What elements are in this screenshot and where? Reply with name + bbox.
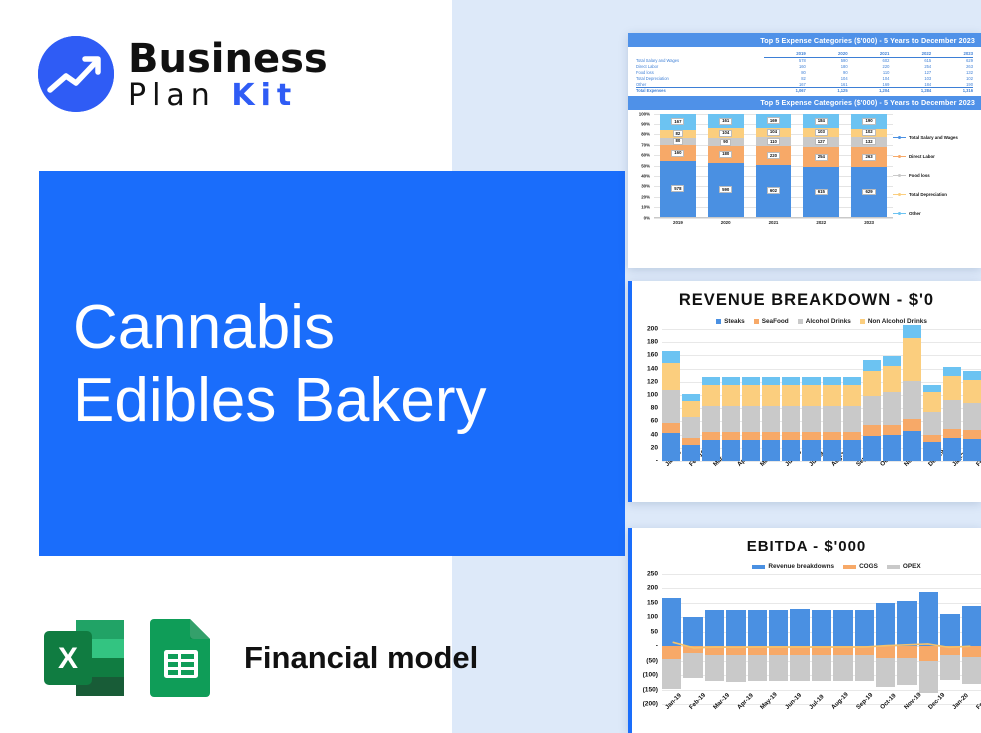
- stacked-segment: 602: [756, 165, 792, 216]
- y-tick-label: (100): [643, 672, 658, 679]
- stacked-segment: [823, 377, 841, 385]
- stacked-segment: [722, 440, 740, 461]
- stacked-segment: [682, 438, 700, 445]
- y-tick-label: 100: [647, 392, 658, 399]
- y-tick-label: -: [656, 643, 658, 650]
- stacked-segment: [726, 610, 745, 646]
- stacked-segment: [943, 429, 961, 438]
- x-tick-label: 2019: [660, 220, 696, 225]
- stacked-segment: [940, 614, 959, 647]
- stacked-bar: [702, 377, 720, 461]
- y-tick-label: 80: [651, 405, 658, 412]
- data-label: 180: [719, 151, 732, 158]
- stacked-bar: [962, 574, 981, 704]
- stacked-segment: [762, 385, 780, 406]
- stacked-segment: [943, 376, 961, 400]
- stacked-bar: [662, 574, 681, 704]
- revenue-chart-title: REVENUE BREAKDOWN - $'0: [632, 281, 981, 310]
- y-tick-label: 0%: [644, 215, 650, 220]
- legend-label: Revenue breakdowns: [768, 563, 834, 570]
- y-tick-label: 40: [651, 431, 658, 438]
- data-label: 161: [719, 118, 732, 125]
- stacked-segment: 190: [851, 114, 887, 129]
- brand-word-plan: Plan: [128, 78, 231, 113]
- stacked-segment: [923, 385, 941, 392]
- stacked-segment: [823, 406, 841, 432]
- legend-item[interactable]: Total Salary and Wages: [893, 128, 977, 147]
- stacked-segment: [943, 438, 961, 461]
- table-cell-value: 1,316: [931, 87, 973, 93]
- stacked-bar: [748, 574, 767, 704]
- legend-item[interactable]: Direct Labor: [893, 147, 977, 166]
- stacked-bar: [843, 377, 861, 461]
- stacked-segment: [863, 425, 881, 436]
- stacked-bar: [683, 574, 702, 704]
- expense-table: 20192020202120222023 Total Salary and Wa…: [628, 47, 981, 96]
- data-label: 167: [671, 118, 684, 125]
- revenue-x-axis: Jan-19Feb-19Mar-19Apr-19May-19Jun-19Jul-…: [662, 463, 981, 470]
- ebitda-chart-title: EBITDA - $'000: [632, 528, 981, 555]
- stacked-segment: [748, 646, 767, 655]
- stacked-segment: [726, 655, 745, 682]
- data-label: 104: [719, 130, 732, 137]
- stacked-segment: [705, 646, 724, 655]
- stacked-segment: [705, 655, 724, 681]
- stacked-segment: [762, 440, 780, 461]
- data-label: 578: [671, 185, 684, 192]
- data-label: 254: [815, 154, 828, 161]
- y-tick-label: 100%: [639, 111, 650, 116]
- stacked-segment: 254: [803, 147, 839, 167]
- stacked-segment: [903, 338, 921, 381]
- stacked-segment: [903, 381, 921, 419]
- stacked-segment: [812, 646, 831, 655]
- stacked-segment: 169: [756, 114, 792, 128]
- data-label: 615: [815, 189, 828, 196]
- expense-stacked-chart: 100%90%80%70%60%50%40%30%20%10%0% 167828…: [628, 110, 981, 234]
- stacked-bar: [943, 367, 961, 461]
- stacked-segment: [812, 655, 831, 681]
- stacked-segment: [883, 425, 901, 435]
- legend-item[interactable]: SeaFood: [754, 318, 789, 325]
- stacked-segment: 590: [708, 163, 744, 217]
- stacked-segment: [843, 432, 861, 440]
- stacked-segment: [843, 406, 861, 432]
- revenue-legend: SteaksSeaFoodAlcohol DrinksNon Alcohol D…: [632, 318, 981, 325]
- stacked-bar: [742, 377, 760, 461]
- stacked-segment: 184: [803, 114, 839, 129]
- expense-table-title: Top 5 Expense Categories ($'000) - 5 Yea…: [628, 33, 981, 47]
- stacked-segment: 82: [660, 130, 696, 138]
- stacked-segment: [769, 646, 788, 655]
- data-label: 103: [815, 129, 828, 136]
- legend-label: Other: [909, 211, 921, 216]
- legend-item[interactable]: OPEX: [887, 563, 921, 570]
- stacked-segment: [919, 646, 938, 661]
- ebitda-y-axis: 25020015010050-(50)(100)(150)(200): [632, 574, 660, 704]
- stacked-segment: 110: [756, 137, 792, 146]
- y-tick-label: 60%: [641, 153, 650, 158]
- y-tick-label: 10%: [641, 205, 650, 210]
- stacked-segment: [863, 371, 881, 397]
- stacked-segment: [883, 366, 901, 392]
- stacked-segment: [726, 646, 745, 655]
- stacked-segment: [662, 390, 680, 423]
- stacked-segment: [897, 658, 916, 685]
- stacked-segment: [705, 610, 724, 646]
- stacked-segment: [742, 385, 760, 406]
- stacked-segment: [940, 655, 959, 680]
- stacked-segment: [823, 440, 841, 461]
- stacked-segment: 104: [756, 128, 792, 137]
- data-label: 90: [720, 139, 731, 146]
- stacked-segment: [943, 367, 961, 376]
- y-tick-label: 150: [647, 599, 658, 606]
- legend-marker-icon: [893, 194, 906, 195]
- y-tick-label: 180: [647, 339, 658, 346]
- x-tick-label: 2023: [851, 220, 887, 225]
- stacked-bar: [762, 377, 780, 461]
- stacked-segment: [802, 385, 820, 406]
- legend-swatch-icon: [752, 565, 765, 569]
- data-label: 190: [862, 118, 875, 125]
- y-tick-label: 20%: [641, 194, 650, 199]
- data-label: 263: [862, 154, 875, 161]
- stacked-segment: [702, 385, 720, 406]
- stacked-segment: [702, 440, 720, 461]
- y-tick-label: (150): [643, 686, 658, 693]
- stacked-bar: [876, 574, 895, 704]
- legend-label: Total Depreciation: [909, 192, 947, 197]
- legend-marker-icon: [893, 156, 906, 157]
- stacked-bar: [790, 574, 809, 704]
- stacked-bar: [802, 377, 820, 461]
- y-tick-label: 50: [651, 628, 658, 635]
- stacked-segment: [683, 653, 702, 678]
- legend-swatch-icon: [843, 565, 856, 569]
- stacked-bar: [833, 574, 852, 704]
- data-label: 132: [862, 138, 875, 145]
- pct-x-axis: 20192020202120222023: [654, 220, 893, 225]
- legend-label: Direct Labor: [909, 154, 935, 159]
- stacked-segment: [742, 432, 760, 440]
- ebitda-screenshot[interactable]: EBITDA - $'000 Revenue breakdownsCOGSOPE…: [628, 528, 981, 733]
- legend-item[interactable]: Revenue breakdowns: [752, 563, 834, 570]
- table-cell-value: 1,204: [848, 87, 890, 93]
- data-label: 169: [767, 117, 780, 124]
- stacked-bar: [722, 377, 740, 461]
- legend-label: Steaks: [724, 318, 745, 325]
- stacked-bar: [705, 574, 724, 704]
- stacked-segment: [662, 433, 680, 461]
- stacked-bar: [940, 574, 959, 704]
- stacked-bar: 16110490180590: [708, 114, 744, 217]
- stacked-segment: [923, 442, 941, 461]
- y-tick-label: 80%: [641, 132, 650, 137]
- legend-label: Alcohol Drinks: [806, 318, 851, 325]
- stacked-segment: [823, 385, 841, 406]
- stacked-segment: [742, 406, 760, 432]
- stacked-segment: [782, 406, 800, 432]
- legend-item[interactable]: Steaks: [716, 318, 745, 325]
- stacked-segment: [702, 406, 720, 432]
- stacked-bar: [682, 394, 700, 461]
- stacked-segment: [823, 432, 841, 440]
- stacked-bar: [903, 325, 921, 461]
- stacked-segment: [833, 646, 852, 655]
- stacked-segment: [802, 432, 820, 440]
- stacked-segment: 90: [708, 138, 744, 146]
- stacked-bar: 184103127254615: [803, 114, 839, 217]
- legend-label: SeaFood: [762, 318, 789, 325]
- stacked-segment: [812, 610, 831, 646]
- legend-marker-icon: [893, 175, 906, 176]
- legend-item[interactable]: Other: [893, 204, 977, 223]
- stacked-segment: [940, 646, 959, 655]
- stacked-segment: [843, 377, 861, 385]
- stacked-segment: 629: [851, 167, 887, 216]
- stacked-segment: [876, 646, 895, 658]
- legend-swatch-icon: [798, 319, 803, 324]
- legend-swatch-icon: [754, 319, 759, 324]
- expense-chart-title: Top 5 Expense Categories ($'000) - 5 Yea…: [628, 96, 981, 110]
- table-cell-value: 1,067: [764, 87, 806, 93]
- stacked-segment: 160: [660, 145, 696, 160]
- stacked-segment: [682, 401, 700, 417]
- stacked-segment: [662, 351, 680, 362]
- stacked-segment: [702, 432, 720, 440]
- data-label: 104: [767, 129, 780, 136]
- stacked-segment: [662, 363, 680, 390]
- stacked-segment: [923, 412, 941, 435]
- revenue-plot-area: [662, 329, 981, 461]
- revenue-y-axis: 20018016014012010080604020-: [632, 329, 660, 461]
- legend-label: Food loss: [909, 173, 930, 178]
- google-sheets-icon: [148, 617, 214, 699]
- stacked-segment: [855, 646, 874, 655]
- data-label: 590: [719, 186, 732, 193]
- legend-marker-icon: [893, 137, 906, 138]
- stacked-segment: [962, 606, 981, 646]
- stacked-bar: 1678280160578: [660, 114, 696, 217]
- stacked-segment: [790, 609, 809, 646]
- stacked-bar: [897, 574, 916, 704]
- microsoft-excel-icon: X: [42, 618, 126, 698]
- data-label: 220: [767, 152, 780, 159]
- legend-label: Total Salary and Wages: [909, 135, 958, 140]
- stacked-segment: [782, 432, 800, 440]
- page-title-line1: Cannabis: [73, 292, 613, 365]
- stacked-segment: [782, 377, 800, 385]
- data-label: 127: [815, 138, 828, 145]
- stacked-segment: 104: [708, 128, 744, 138]
- pct-plot-area: 1678280160578161104901805901691041102206…: [654, 114, 893, 218]
- stacked-bar: [726, 574, 745, 704]
- stacked-segment: [962, 646, 981, 656]
- stacked-bar: [923, 385, 941, 461]
- y-tick-label: 60: [651, 418, 658, 425]
- stacked-segment: [748, 655, 767, 681]
- legend-item[interactable]: Alcohol Drinks: [798, 318, 851, 325]
- y-tick-label: 200: [647, 326, 658, 333]
- stacked-segment: [963, 403, 981, 430]
- brand-logo: Business Plan Kit: [38, 36, 328, 112]
- y-tick-label: 250: [647, 571, 658, 578]
- page-title: Cannabis Edibles Bakery: [73, 292, 613, 437]
- y-tick-label: (200): [643, 701, 658, 708]
- stacked-segment: [782, 440, 800, 461]
- stacked-segment: [662, 598, 681, 646]
- stacked-segment: [903, 325, 921, 338]
- stacked-segment: [790, 646, 809, 655]
- y-tick-label: 50%: [641, 163, 650, 168]
- stacked-segment: [769, 655, 788, 681]
- stacked-segment: [876, 603, 895, 646]
- stacked-segment: [790, 655, 809, 681]
- stacked-segment: [683, 646, 702, 653]
- stacked-segment: [802, 440, 820, 461]
- table-cell-value: 1,125: [806, 87, 848, 93]
- data-label: 110: [767, 138, 780, 145]
- stacked-segment: 167: [660, 114, 696, 130]
- stacked-segment: [843, 440, 861, 461]
- format-badges: X Financial model: [42, 617, 478, 699]
- stacked-segment: [722, 377, 740, 385]
- x-tick-label: 2022: [803, 220, 839, 225]
- legend-item[interactable]: Food loss: [893, 166, 977, 185]
- stacked-segment: [923, 435, 941, 442]
- pct-legend: Total Salary and WagesDirect LaborFood l…: [893, 128, 977, 223]
- stacked-segment: 102: [851, 129, 887, 137]
- page-title-line2: Edibles Bakery: [73, 365, 613, 438]
- stacked-segment: 80: [660, 138, 696, 146]
- stacked-segment: [833, 655, 852, 681]
- stacked-bar: [782, 377, 800, 461]
- x-tick-label: 2020: [708, 220, 744, 225]
- growth-arrow-circle-icon: [38, 36, 114, 112]
- expense-categories-screenshot[interactable]: Top 5 Expense Categories ($'000) - 5 Yea…: [628, 33, 981, 268]
- stacked-segment: [963, 371, 981, 380]
- stacked-segment: [722, 385, 740, 406]
- stacked-segment: [903, 431, 921, 461]
- stacked-segment: 132: [851, 137, 887, 147]
- legend-item[interactable]: Total Depreciation: [893, 185, 977, 204]
- stacked-segment: 220: [756, 146, 792, 165]
- legend-swatch-icon: [860, 319, 865, 324]
- stacked-segment: [855, 655, 874, 681]
- stacked-segment: [662, 659, 681, 689]
- stacked-segment: [662, 646, 681, 659]
- y-tick-label: 70%: [641, 142, 650, 147]
- stacked-segment: [662, 423, 680, 434]
- stacked-bar: [863, 360, 881, 461]
- data-label: 160: [671, 150, 684, 157]
- stacked-segment: 161: [708, 114, 744, 129]
- x-tick-label: 2021: [756, 220, 792, 225]
- stacked-bar: [812, 574, 831, 704]
- revenue-breakdown-screenshot[interactable]: REVENUE BREAKDOWN - $'0 SteaksSeaFoodAlc…: [628, 281, 981, 502]
- stacked-segment: [833, 610, 852, 646]
- stacked-segment: [682, 394, 700, 401]
- stacked-bar: [662, 351, 680, 461]
- svg-text:X: X: [58, 642, 78, 675]
- stacked-bar: [919, 574, 938, 704]
- legend-item[interactable]: Non Alcohol Drinks: [860, 318, 927, 325]
- stacked-segment: [923, 392, 941, 412]
- stacked-segment: [897, 601, 916, 647]
- y-tick-label: 30%: [641, 184, 650, 189]
- stacked-bar: [963, 371, 981, 461]
- table-cell-value: 1,284: [889, 87, 931, 93]
- ebitda-legend: Revenue breakdownsCOGSOPEX: [632, 563, 981, 570]
- stacked-segment: [883, 435, 901, 461]
- stacked-segment: 578: [660, 161, 696, 217]
- stacked-segment: [682, 445, 700, 462]
- stacked-segment: [943, 400, 961, 428]
- legend-label: Non Alcohol Drinks: [868, 318, 927, 325]
- data-label: 80: [673, 138, 684, 145]
- y-tick-label: 200: [647, 585, 658, 592]
- stacked-segment: 180: [708, 146, 744, 162]
- stacked-bar: 190102132263629: [851, 114, 887, 217]
- y-tick-label: -: [656, 458, 658, 465]
- stacked-bar: [769, 574, 788, 704]
- stacked-segment: 127: [803, 137, 839, 147]
- financial-model-label: Financial model: [244, 640, 478, 676]
- stacked-segment: 263: [851, 147, 887, 168]
- stacked-segment: [897, 646, 916, 658]
- table-total-row: Total Expenses1,0671,1251,2041,2841,316: [636, 87, 973, 93]
- ebitda-plot: 25020015010050-(50)(100)(150)(200) Jan-1…: [632, 574, 981, 733]
- stacked-segment: [782, 385, 800, 406]
- stacked-segment: [863, 360, 881, 371]
- stacked-segment: 103: [803, 128, 839, 136]
- legend-label: COGS: [859, 563, 878, 570]
- y-tick-label: 40%: [641, 174, 650, 179]
- data-label: 82: [673, 130, 684, 137]
- stacked-segment: [702, 377, 720, 385]
- stacked-segment: [963, 380, 981, 403]
- stacked-segment: [843, 385, 861, 406]
- legend-marker-icon: [893, 213, 906, 214]
- legend-label: OPEX: [903, 563, 921, 570]
- stacked-segment: [855, 610, 874, 646]
- stacked-segment: [802, 406, 820, 432]
- stacked-segment: [762, 432, 780, 440]
- stacked-segment: [748, 610, 767, 646]
- stacked-segment: [722, 432, 740, 440]
- legend-swatch-icon: [716, 319, 721, 324]
- stacked-segment: [742, 440, 760, 461]
- stacked-segment: [802, 377, 820, 385]
- stacked-segment: [762, 377, 780, 385]
- data-label: 629: [862, 189, 875, 196]
- stacked-bar: [823, 377, 841, 461]
- brand-line-business: Business: [128, 39, 328, 79]
- slide-canvas: Business Plan Kit Cannabis Edibles Baker…: [0, 0, 981, 733]
- revenue-plot: 20018016014012010080604020- Jan-19Feb-19…: [632, 329, 981, 491]
- y-tick-label: 160: [647, 352, 658, 359]
- y-tick-label: 20: [651, 444, 658, 451]
- stacked-segment: [963, 430, 981, 439]
- stacked-segment: [919, 592, 938, 646]
- stacked-segment: [762, 406, 780, 432]
- y-tick-label: 100: [647, 614, 658, 621]
- stacked-segment: [863, 396, 881, 425]
- stacked-segment: [769, 610, 788, 646]
- legend-item[interactable]: COGS: [843, 563, 878, 570]
- pct-y-axis: 100%90%80%70%60%50%40%30%20%10%0%: [630, 114, 652, 218]
